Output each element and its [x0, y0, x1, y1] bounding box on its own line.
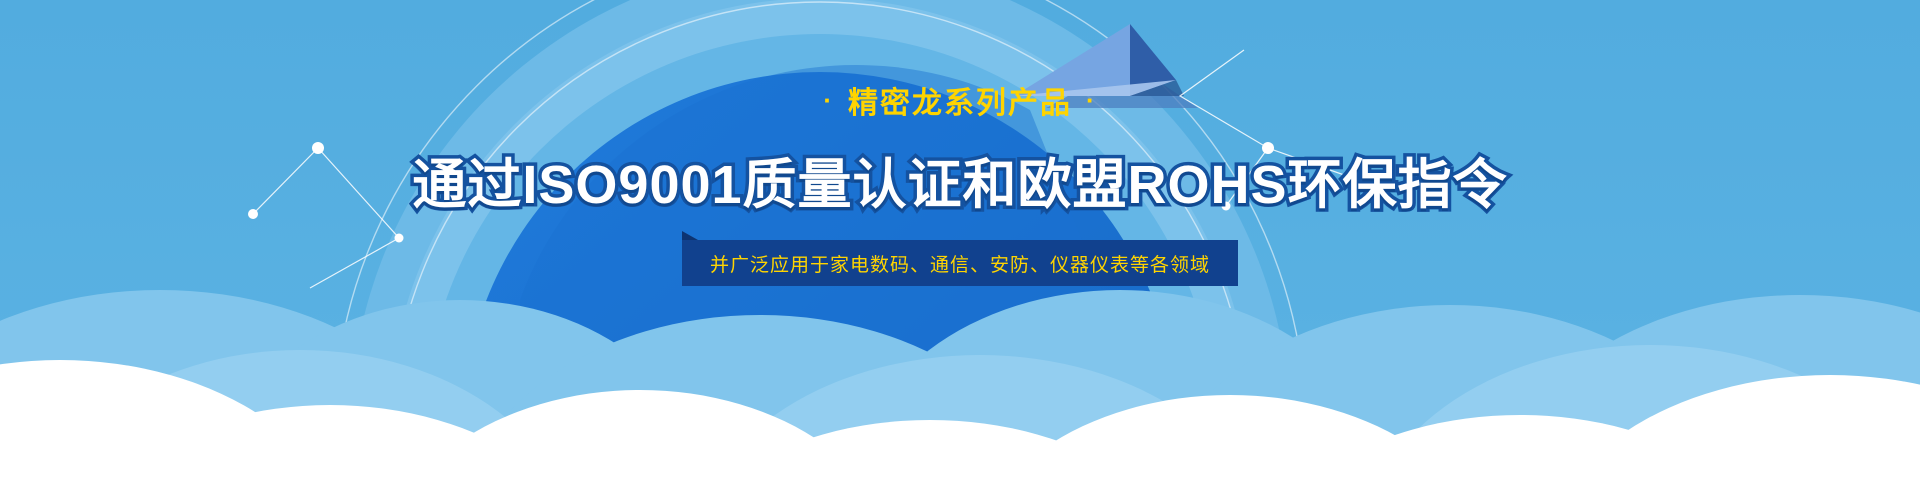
promo-banner: ·精密龙系列产品· 通过ISO9001质量认证和欧盟ROHS环保指令 并广泛应用… — [0, 0, 1920, 480]
cloud-graphic — [0, 0, 1920, 480]
